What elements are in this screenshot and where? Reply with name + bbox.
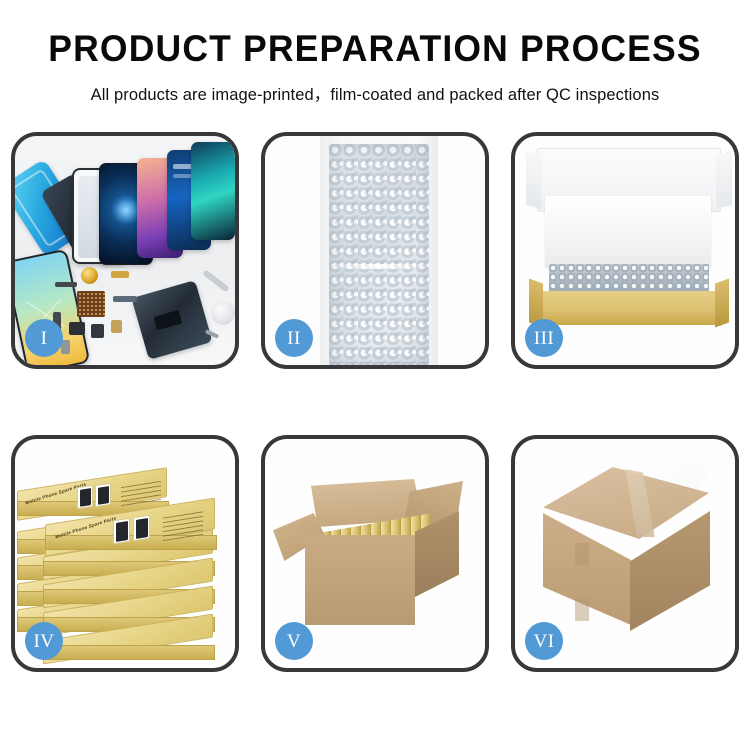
spare-part-camera — [69, 322, 85, 335]
teal-wave-phone — [191, 142, 235, 240]
round-tool — [211, 301, 235, 325]
step-badge-3: III — [525, 319, 563, 357]
spare-part-button — [111, 320, 122, 333]
step-badge-6: VI — [525, 622, 563, 660]
process-step-panel-6: VI — [511, 435, 739, 672]
copper-mesh-part — [77, 291, 105, 317]
carton-seal-mark-top — [575, 543, 589, 565]
page-title: PRODUCT PREPARATION PROCESS — [15, 30, 735, 67]
step-badge-4: IV — [25, 622, 63, 660]
box-screen-graphic-1a — [77, 485, 93, 510]
spare-part-strip-1 — [55, 282, 77, 287]
step-badge-1: I — [25, 319, 63, 357]
carton-seal-mark-bottom — [575, 599, 589, 621]
page-subtitle: All products are image-printed，film-coat… — [0, 81, 750, 105]
spare-part-speaker — [91, 324, 104, 338]
spare-part-flex-cable — [113, 296, 137, 302]
step-badge-5: V — [275, 622, 313, 660]
ui-bar-small — [173, 174, 193, 178]
printed-box-top-1: Mobile Phone Spare Parts — [17, 479, 167, 509]
bubble-wrapped-contents — [549, 264, 709, 294]
logic-board-chip — [153, 310, 182, 331]
foam-padding — [545, 196, 711, 268]
step-badge-2: II — [275, 319, 313, 357]
header: PRODUCT PREPARATION PROCESS All products… — [0, 0, 750, 105]
opened-phone-housing — [131, 280, 212, 360]
process-step-panel-5: V — [261, 435, 489, 672]
stacked-box-r4 — [43, 627, 213, 651]
tweezers-tool — [202, 269, 229, 292]
box-screen-graphic-2b — [133, 515, 150, 542]
vibration-motor-part — [81, 267, 98, 284]
film-seam — [329, 264, 429, 269]
kraft-box-base — [539, 291, 719, 325]
product-preparation-infographic: PRODUCT PREPARATION PROCESS All products… — [0, 0, 750, 750]
spare-part-connector — [111, 271, 129, 278]
process-step-panel-2: II — [261, 132, 489, 369]
process-step-grid: I II III — [0, 132, 750, 675]
process-step-panel-3: III — [511, 132, 739, 369]
bubble-wrap-sheet — [329, 144, 429, 365]
process-step-panel-1: I — [11, 132, 239, 369]
box-screen-graphic-1b — [95, 483, 111, 508]
process-step-panel-4: Mobile Phone Spare Parts Mobile Phone Sp… — [11, 435, 239, 672]
box-screen-graphic-2a — [113, 518, 130, 545]
carton-front-face — [305, 535, 415, 625]
printed-box-top-2: Mobile Phone Spare Parts — [45, 511, 215, 543]
